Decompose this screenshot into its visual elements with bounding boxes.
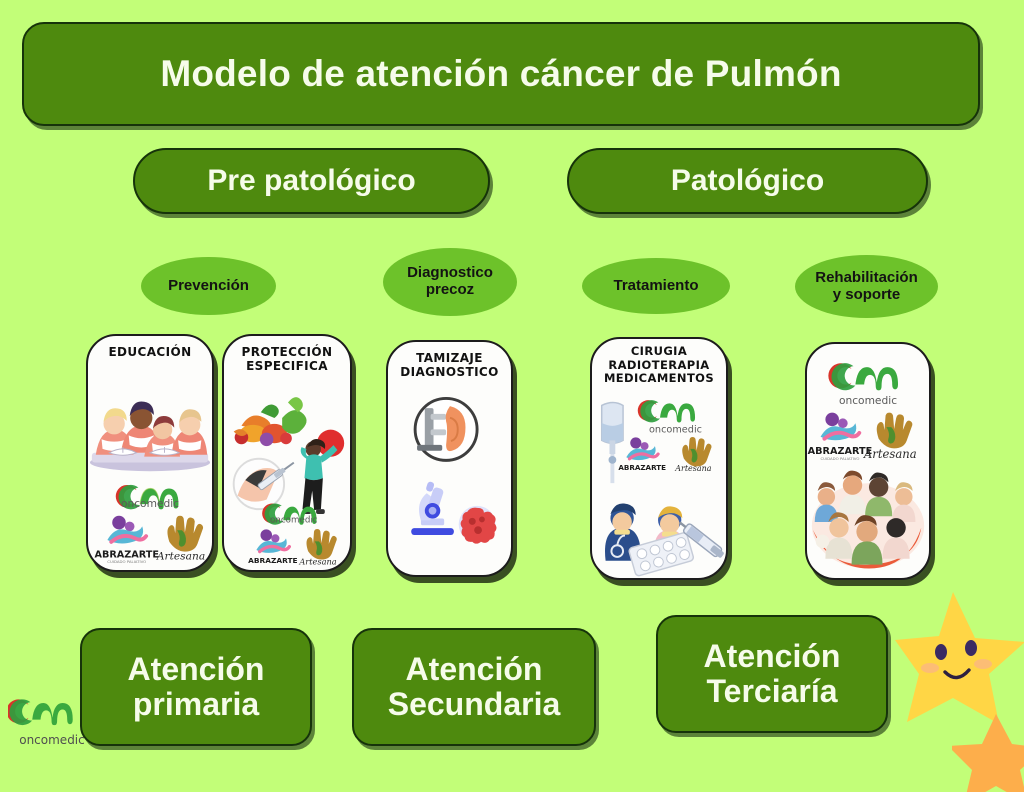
- infographic-canvas: Modelo de atención cáncer de Pulmón Pre …: [0, 0, 1024, 768]
- level-label-line1: Atención: [704, 639, 841, 674]
- oncomedic-wordmark: oncomedic: [19, 733, 85, 747]
- card-title-line: CIRUGIA: [631, 344, 687, 358]
- smiley-star-icon: [895, 588, 1024, 728]
- proteccion-illustration-svg: oncomedic ABRAZARTE Artesana: [224, 373, 350, 570]
- card-illustration-support-group: oncomedic ABRAZARTE CUIDADO PALIATIVO Ar…: [807, 344, 929, 578]
- tamizaje-illustration-svg: [388, 379, 511, 575]
- svg-text:Artesana: Artesana: [863, 447, 917, 461]
- card-title: EDUCACIÓN: [88, 345, 212, 359]
- level-label-line2: Secundaria: [388, 687, 561, 722]
- stage-label-line2: precoz: [426, 281, 474, 298]
- svg-text:Artesana: Artesana: [674, 464, 711, 473]
- svg-text:oncomedic: oncomedic: [270, 516, 318, 526]
- page-title: Modelo de atención cáncer de Pulmón: [22, 22, 980, 126]
- stage-pill-rehabilitacion-soporte: Rehabilitación y soporte: [795, 255, 938, 318]
- svg-text:Artesana: Artesana: [156, 550, 205, 563]
- card-proteccion-especifica: PROTECCIÓN ESPECIFICA: [222, 334, 352, 572]
- card-title-line: MEDICAMENTOS: [604, 371, 714, 385]
- card-rehabilitacion-soporte: oncomedic ABRAZARTE CUIDADO PALIATIVO Ar…: [805, 342, 931, 580]
- svg-text:CUIDADO PALIATIVO: CUIDADO PALIATIVO: [820, 456, 859, 461]
- svg-text:oncomedic: oncomedic: [839, 394, 897, 407]
- stage-pill-tratamiento: Tratamiento: [582, 258, 730, 314]
- stage-label-line2: y soporte: [833, 286, 901, 303]
- small-star-icon: [952, 712, 1024, 792]
- svg-text:oncomedic: oncomedic: [121, 497, 179, 510]
- stage-pill-prevencion: Prevención: [141, 257, 276, 315]
- level-atencion-secundaria: Atención Secundaria: [352, 628, 596, 746]
- students-illustration-svg: oncomedic ABRAZARTE CUIDADO PALIATIVO Ar…: [88, 359, 212, 570]
- card-educacion: EDUCACIÓN: [86, 334, 214, 572]
- card-title-line: TAMIZAJE: [416, 351, 483, 365]
- phase-patologico: Patológico: [567, 148, 928, 214]
- card-title-line: DIAGNOSTICO: [400, 365, 499, 379]
- card-title-line: RADIOTERAPIA: [608, 358, 709, 372]
- card-illustration-treatment: oncomedic ABRAZARTE: [592, 386, 726, 578]
- card-title-line: EDUCACIÓN: [108, 345, 191, 359]
- level-label-line1: Atención: [128, 652, 265, 687]
- svg-text:ABRAZARTE: ABRAZARTE: [248, 556, 297, 565]
- stage-label-line1: Tratamiento: [613, 277, 698, 294]
- card-tamizaje-diagnostico: TAMIZAJE DIAGNOSTICO: [386, 340, 513, 577]
- card-cirugia-radioterapia-medicamentos: CIRUGIA RADIOTERAPIA MEDICAMENTOS oncome…: [590, 337, 728, 580]
- card-title: PROTECCIÓN ESPECIFICA: [224, 345, 350, 373]
- page-title-text: Modelo de atención cáncer de Pulmón: [160, 54, 841, 94]
- phase-pre-patologico: Pre patológico: [133, 148, 490, 214]
- card-title: CIRUGIA RADIOTERAPIA MEDICAMENTOS: [592, 345, 726, 386]
- svg-text:Artesana: Artesana: [298, 557, 336, 567]
- oncomedic-footer-logo: oncomedic: [8, 690, 104, 752]
- card-title-line: ESPECIFICA: [246, 359, 328, 373]
- card-illustration-students-studying: oncomedic ABRAZARTE CUIDADO PALIATIVO Ar…: [88, 359, 212, 570]
- rehabilitacion-illustration-svg: oncomedic ABRAZARTE CUIDADO PALIATIVO Ar…: [807, 344, 929, 578]
- stage-label-line1: Prevención: [168, 277, 249, 294]
- svg-text:CUIDADO PALIATIVO: CUIDADO PALIATIVO: [107, 559, 146, 564]
- card-title-line: PROTECCIÓN: [242, 345, 333, 359]
- level-atencion-terciaria: Atención Terciaría: [656, 615, 888, 733]
- level-atencion-primaria: Atención primaria: [80, 628, 312, 746]
- tratamiento-illustration-svg: oncomedic ABRAZARTE: [592, 386, 726, 578]
- level-label-line2: primaria: [128, 687, 265, 722]
- stage-pill-diagnostico-precoz: Diagnostico precoz: [383, 248, 517, 316]
- stage-label-line1: Diagnostico: [407, 264, 493, 281]
- stage-label-line1: Rehabilitación: [815, 269, 918, 286]
- phase-label: Patológico: [671, 165, 824, 197]
- phase-label: Pre patológico: [207, 165, 415, 197]
- card-title: TAMIZAJE DIAGNOSTICO: [388, 351, 511, 379]
- svg-text:ABRAZARTE: ABRAZARTE: [618, 463, 666, 472]
- svg-text:oncomedic: oncomedic: [649, 424, 702, 435]
- card-illustration-vegetables-vaccine-exercise: oncomedic ABRAZARTE Artesana: [224, 373, 350, 570]
- card-illustration-xray-microscope: [388, 379, 511, 575]
- level-label-line1: Atención: [388, 652, 561, 687]
- level-label-line2: Terciaría: [704, 674, 841, 709]
